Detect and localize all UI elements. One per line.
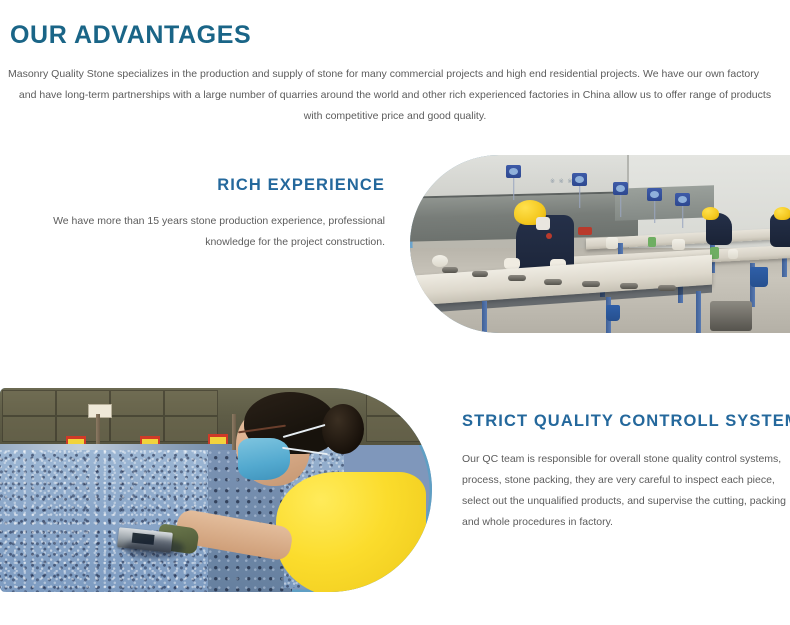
- workshop-jug-3: [728, 249, 738, 259]
- section-rich-experience-text: RICH EXPERIENCE We have more than 15 yea…: [30, 176, 385, 253]
- workshop-bucket-blue-1: [750, 267, 768, 287]
- workshop-stone-piece-4: [544, 279, 562, 285]
- qc-wall-brick-5: [2, 416, 56, 442]
- qc-inspection-scene: [0, 388, 432, 592]
- section-heading-strict-quality: STRICT QUALITY CONTROLL SYSTEM: [462, 412, 786, 432]
- strict-quality-line-1: Our QC team is responsible for overall s…: [462, 449, 786, 470]
- workshop-stone-piece-7: [658, 285, 676, 291]
- workshop-lamp-3: [613, 182, 628, 195]
- rich-experience-line-1: We have more than 15 years stone product…: [30, 211, 385, 232]
- workshop-lamp-5: [675, 193, 690, 206]
- qc-device-shadow: [124, 538, 184, 558]
- workshop-bucket-blue-2: [606, 305, 620, 321]
- strict-quality-line-3: select out the unqualified products, and…: [462, 491, 786, 512]
- workshop-jug-2: [672, 239, 685, 250]
- factory-workshop-photo: ※ ※ ※: [410, 155, 790, 333]
- qc-inspection-photo: [0, 388, 432, 592]
- section-strict-quality-text: STRICT QUALITY CONTROLL SYSTEM Our QC te…: [462, 412, 786, 533]
- intro-line-2: and have long-term partnerships with a l…: [8, 85, 782, 106]
- workshop-worker-3-helmet: [774, 207, 790, 220]
- workshop-wall-logo: ※ ※ ※: [550, 178, 573, 185]
- workshop-stone-piece-2: [472, 271, 488, 277]
- workshop-table-leg-f3: [696, 291, 701, 333]
- workshop-stone-piece-6: [620, 283, 638, 289]
- workshop-lamp-2: [572, 173, 587, 186]
- qc-inspector-hair-bun: [322, 404, 364, 454]
- qc-wall-brick-10: [366, 416, 422, 442]
- factory-workshop-scene: ※ ※ ※: [410, 155, 790, 333]
- intro-paragraph: Masonry Quality Stone specializes in the…: [8, 64, 782, 127]
- rich-experience-line-2: knowledge for the project construction.: [30, 232, 385, 253]
- workshop-worker-1-mask: [536, 217, 550, 230]
- workshop-box-red: [578, 227, 592, 235]
- workshop-duct-secondary: [615, 185, 714, 220]
- qc-wall-post-1: [96, 414, 100, 448]
- workshop-table-leg-f1: [482, 301, 487, 333]
- workshop-stone-piece-3: [508, 275, 526, 281]
- qc-inspector-shirt: [276, 472, 426, 592]
- qc-wall-brick-1: [2, 390, 56, 416]
- workshop-stone-piece-1: [442, 267, 458, 273]
- workshop-worker-1-badge: [546, 233, 552, 239]
- workshop-lamp-4: [647, 188, 662, 201]
- qc-wall-brick-9: [366, 390, 422, 416]
- qc-wall-brick-4: [164, 390, 218, 416]
- page-title: OUR ADVANTAGES: [10, 22, 251, 50]
- section-body-strict-quality: Our QC team is responsible for overall s…: [462, 449, 786, 533]
- qc-wall-brick-3: [110, 390, 164, 416]
- section-body-rich-experience: We have more than 15 years stone product…: [30, 211, 385, 253]
- intro-line-1: Masonry Quality Stone specializes in the…: [8, 64, 782, 85]
- workshop-worker-2-helmet: [702, 207, 719, 220]
- workshop-lamp-1: [506, 165, 521, 178]
- strict-quality-line-4: and whole procedures in factory.: [462, 512, 786, 533]
- workshop-can-green-1: [648, 237, 656, 247]
- workshop-roller: [432, 255, 448, 267]
- qc-inspector-face-mask: [238, 438, 290, 480]
- workshop-tool-pile: [710, 301, 752, 331]
- workshop-stone-piece-5: [582, 281, 600, 287]
- intro-line-3: with competitive price and good quality.: [8, 106, 782, 127]
- strict-quality-line-2: process, stone packing, they are very ca…: [462, 470, 786, 491]
- qc-wall-sign-white: [88, 404, 112, 418]
- workshop-jug-1: [606, 237, 618, 249]
- section-heading-rich-experience: RICH EXPERIENCE: [30, 176, 385, 196]
